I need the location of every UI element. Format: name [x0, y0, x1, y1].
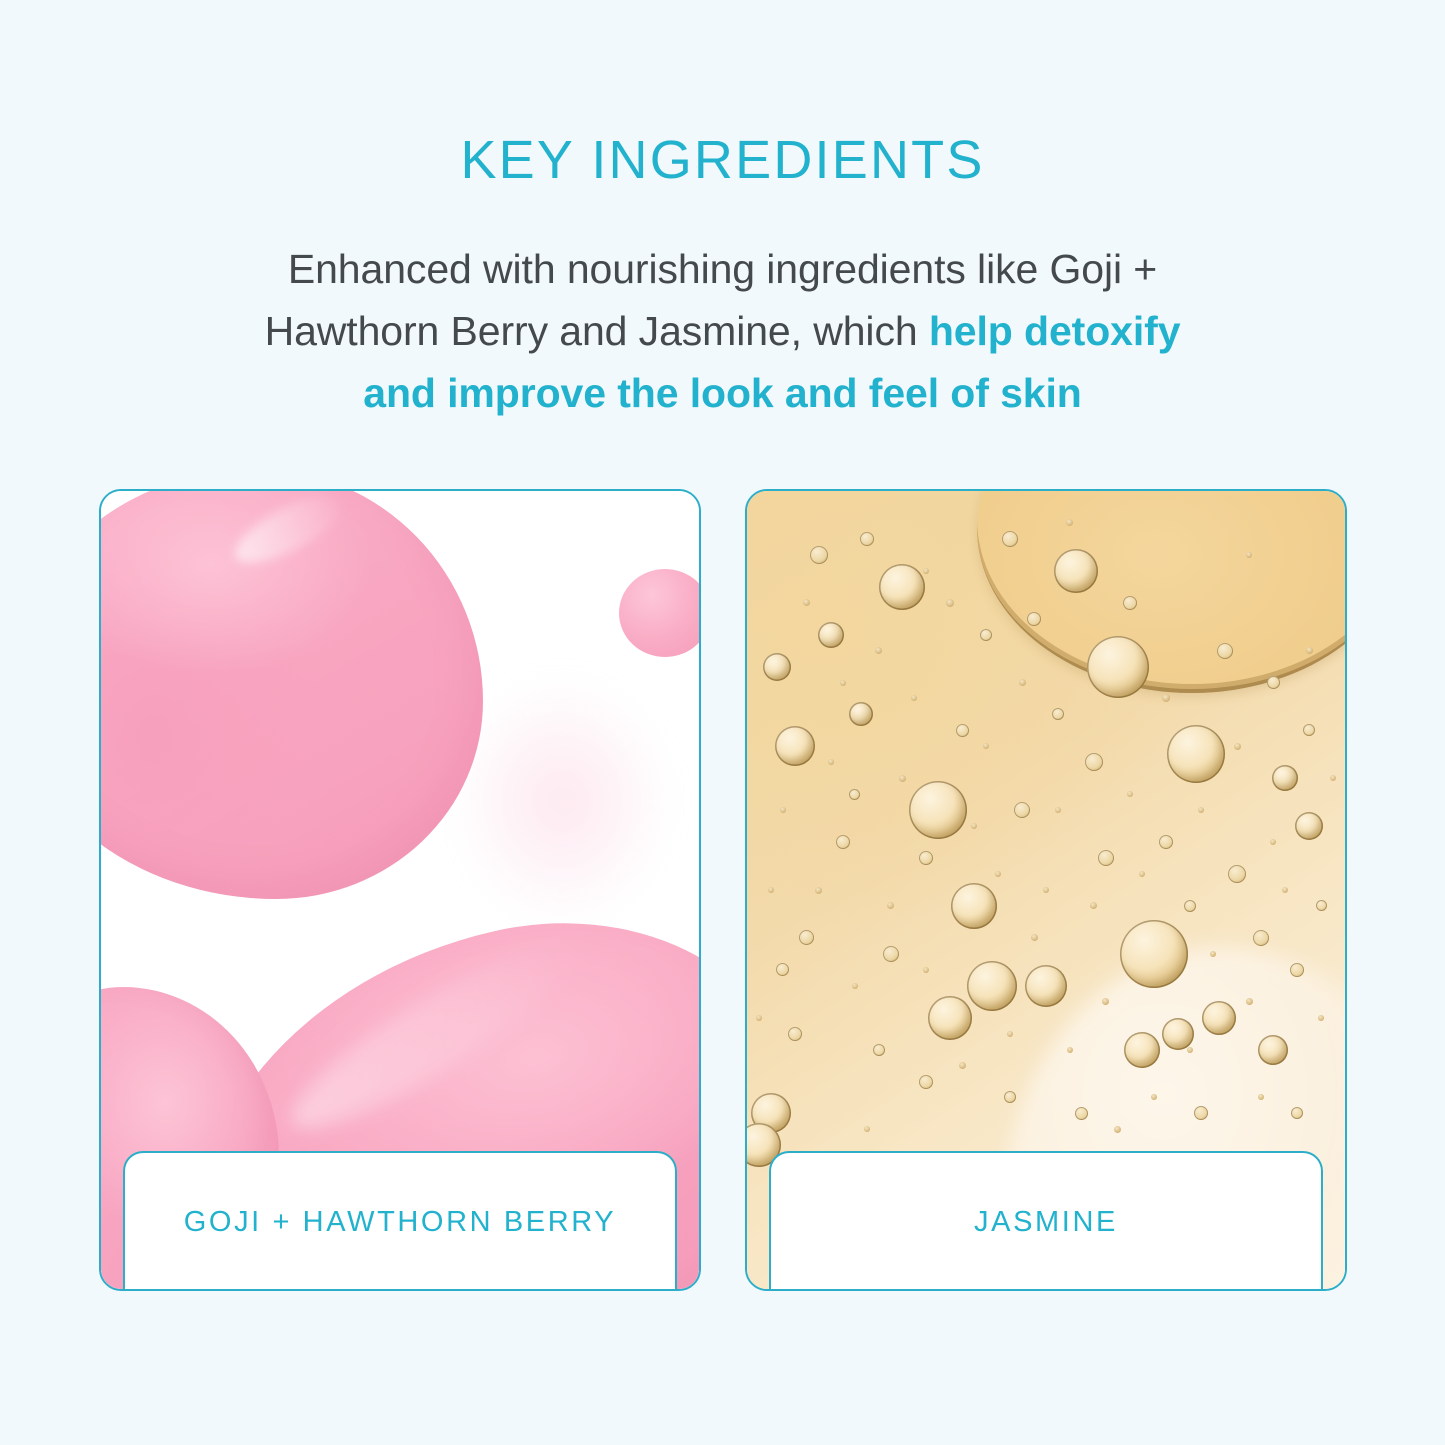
- subtitle-line-3: and improve the look and feel of skin: [168, 362, 1278, 424]
- oil-bubble: [1014, 802, 1030, 818]
- page-title: KEY INGREDIENTS: [0, 132, 1445, 189]
- oil-bubble: [756, 1015, 762, 1021]
- oil-bubble: [1316, 900, 1327, 911]
- oil-bubble: [763, 653, 791, 681]
- oil-bubble: [1184, 900, 1196, 912]
- oil-bubble: [836, 835, 850, 849]
- oil-bubble: [1258, 1035, 1288, 1065]
- oil-bubble: [1162, 694, 1170, 702]
- oil-bubble: [1253, 930, 1269, 946]
- oil-bubble: [768, 887, 774, 893]
- oil-bubble: [971, 823, 977, 829]
- oil-bubble: [788, 1027, 802, 1041]
- oil-bubble: [1123, 596, 1137, 610]
- oil-bubble: [776, 963, 789, 976]
- jasmine-caption-label: JASMINE: [974, 1206, 1118, 1239]
- oil-bubble: [1054, 549, 1098, 593]
- oil-bubble: [1330, 775, 1336, 781]
- oil-bubble: [928, 996, 972, 1040]
- oil-bubble: [1098, 850, 1114, 866]
- oil-bubble: [864, 1126, 870, 1132]
- oil-bubble: [1087, 636, 1149, 698]
- oil-bubble: [799, 930, 814, 945]
- oil-bubble: [1052, 708, 1064, 720]
- jasmine-caption-panel: JASMINE: [769, 1151, 1323, 1291]
- oil-bubble: [840, 680, 846, 686]
- oil-bubble: [1272, 765, 1298, 791]
- oil-bubble: [852, 983, 858, 989]
- ingredient-card-list: GOJI + HAWTHORN BERRY JASMINE: [99, 489, 1347, 1291]
- oil-bubble: [875, 647, 882, 654]
- oil-bubble: [995, 871, 1001, 877]
- oil-bubble: [1198, 807, 1204, 813]
- oil-bubble: [1162, 1018, 1194, 1050]
- oil-bubble: [1318, 1015, 1324, 1021]
- oil-bubble: [849, 702, 873, 726]
- oil-bubble: [1290, 963, 1304, 977]
- subtitle-line-2-text: Hawthorn Berry and Jasmine, which: [265, 308, 929, 354]
- oil-bubble: [923, 967, 929, 973]
- oil-bubble: [1167, 725, 1225, 783]
- oil-bubble: [1090, 902, 1097, 909]
- oil-bubble: [919, 1075, 933, 1089]
- subtitle-line-2: Hawthorn Berry and Jasmine, which help d…: [168, 300, 1278, 362]
- oil-bubble: [899, 775, 906, 782]
- oil-bubble: [1120, 920, 1188, 988]
- oil-bubble: [1159, 835, 1173, 849]
- oil-bubble: [860, 532, 874, 546]
- oil-bubble: [883, 946, 899, 962]
- subtitle-block: Enhanced with nourishing ingredients lik…: [168, 238, 1278, 424]
- ingredient-card-jasmine[interactable]: JASMINE: [745, 489, 1347, 1291]
- oil-bubble: [1187, 1047, 1193, 1053]
- oil-bubble: [1085, 753, 1103, 771]
- subtitle-line-1-text: Enhanced with nourishing ingredients lik…: [288, 246, 1157, 292]
- oil-bubble: [1270, 839, 1276, 845]
- oil-bubble: [828, 759, 834, 765]
- subtitle-line-3-accent: and improve the look and feel of skin: [363, 370, 1082, 416]
- oil-bubble: [873, 1044, 885, 1056]
- oil-bubble: [1124, 1032, 1160, 1068]
- oil-bubble: [923, 568, 929, 574]
- oil-bubble: [1007, 1031, 1013, 1037]
- oil-bubble: [810, 546, 828, 564]
- oil-bubble: [1303, 724, 1315, 736]
- oil-droplet-large: [977, 491, 1345, 693]
- oil-bubble: [1139, 871, 1145, 877]
- oil-bubble: [1282, 887, 1288, 893]
- oil-bubble: [1217, 643, 1233, 659]
- oil-bubble: [980, 629, 992, 641]
- oil-bubble: [879, 564, 925, 610]
- oil-bubble: [951, 883, 997, 929]
- header: KEY INGREDIENTS: [0, 132, 1445, 189]
- oil-bubble: [849, 789, 860, 800]
- oil-bubble: [1055, 807, 1061, 813]
- oil-bubble: [1067, 1047, 1073, 1053]
- oil-bubble: [1127, 791, 1133, 797]
- oil-bubble: [1306, 647, 1313, 654]
- goji-caption-label: GOJI + HAWTHORN BERRY: [184, 1206, 616, 1239]
- oil-bubble: [909, 781, 967, 839]
- oil-bubble: [815, 887, 822, 894]
- oil-bubble: [780, 807, 786, 813]
- oil-bubble: [1202, 1001, 1236, 1035]
- oil-bubble: [775, 726, 815, 766]
- subtitle-line-2-accent: help detoxify: [929, 308, 1181, 354]
- oil-bubble: [803, 599, 810, 606]
- key-ingredients-panel: KEY INGREDIENTS Enhanced with nourishing…: [0, 0, 1445, 1445]
- oil-bubble: [1002, 531, 1018, 547]
- oil-bubble: [959, 1062, 966, 1069]
- oil-bubble: [983, 743, 989, 749]
- oil-bubble: [887, 902, 894, 909]
- oil-bubble: [946, 599, 954, 607]
- oil-bubble: [919, 851, 933, 865]
- oil-bubble: [1031, 934, 1038, 941]
- oil-bubble: [1025, 965, 1067, 1007]
- oil-bubble: [818, 622, 844, 648]
- oil-bubble: [956, 724, 969, 737]
- ingredient-card-goji[interactable]: GOJI + HAWTHORN BERRY: [99, 489, 701, 1291]
- oil-bubble: [1234, 743, 1241, 750]
- oil-bubble: [1267, 676, 1280, 689]
- oil-bubble: [1027, 612, 1041, 626]
- subtitle-line-1: Enhanced with nourishing ingredients lik…: [168, 238, 1278, 300]
- oil-bubble: [967, 961, 1017, 1011]
- goji-caption-panel: GOJI + HAWTHORN BERRY: [123, 1151, 677, 1291]
- oil-bubble: [1228, 865, 1246, 883]
- oil-bubble: [1004, 1091, 1016, 1103]
- oil-bubble: [911, 695, 917, 701]
- pink-droplet-small: [619, 569, 699, 657]
- oil-bubble: [1295, 812, 1323, 840]
- oil-bubble: [1019, 679, 1026, 686]
- oil-bubble: [1043, 887, 1049, 893]
- oil-bubble: [1246, 998, 1253, 1005]
- pink-droplet-large: [101, 491, 483, 899]
